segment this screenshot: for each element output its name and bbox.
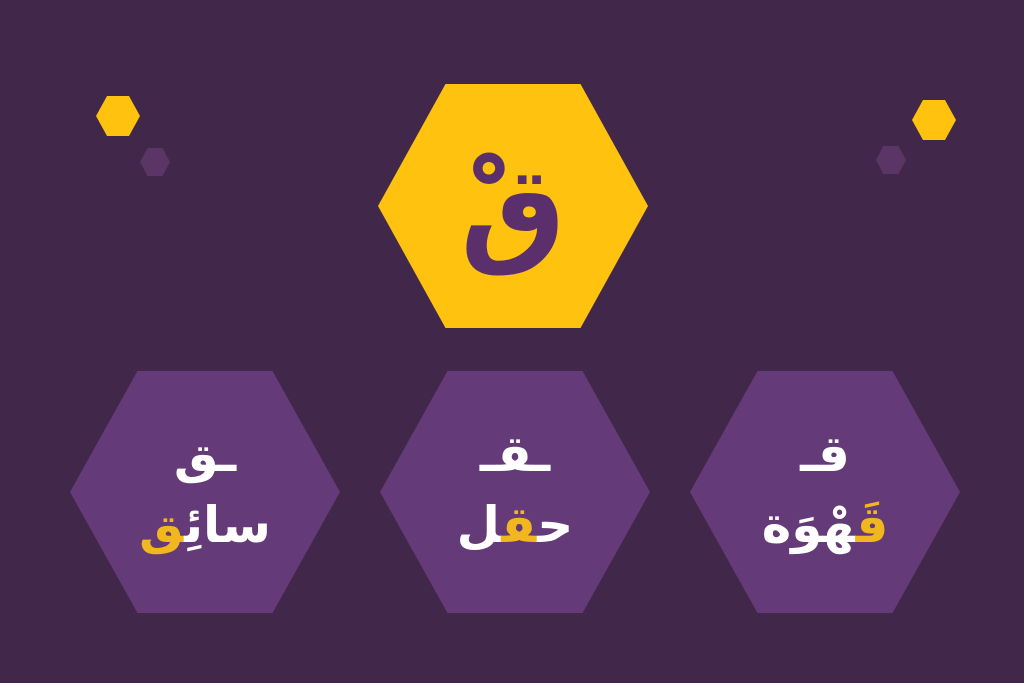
example-word-final: سائِق [139,497,271,555]
example-word-plain-final: سائ [184,496,271,554]
letter-form-card-medial[interactable]: ـقـ حقل [380,371,650,613]
example-word-highlight-final: ِق [139,496,184,554]
example-word-highlight-medial: ق [501,496,537,554]
example-word-highlight-initial: قَ [856,496,889,554]
example-word-initial: قَهْوَة [762,497,889,555]
deco-hexagon-purple-left [140,148,170,176]
letter-form-card-initial[interactable]: قـ قَهْوَة [690,371,960,613]
example-word-medial: حقل [457,497,574,555]
letter-form-label-initial: قـ [800,429,850,479]
deco-hexagon-yellow-left [96,96,140,136]
deco-hexagon-purple-right [876,146,906,174]
example-word-suffix-medial: ل [457,496,502,554]
main-letter-hexagon[interactable]: قْ [378,84,648,328]
deco-hexagon-yellow-right [912,100,956,140]
example-word-plain-medial: ح [537,496,573,554]
main-letter-glyph: قْ [460,150,566,268]
letter-forms-screen: قْ ـق سائِق ـقـ حقل قـ قَهْوَة [0,0,1024,683]
letter-form-label-medial: ـقـ [480,429,550,479]
letter-form-label-final: ـق [174,429,236,479]
letter-form-card-final[interactable]: ـق سائِق [70,371,340,613]
example-word-suffix-initial: هْوَة [762,496,856,554]
